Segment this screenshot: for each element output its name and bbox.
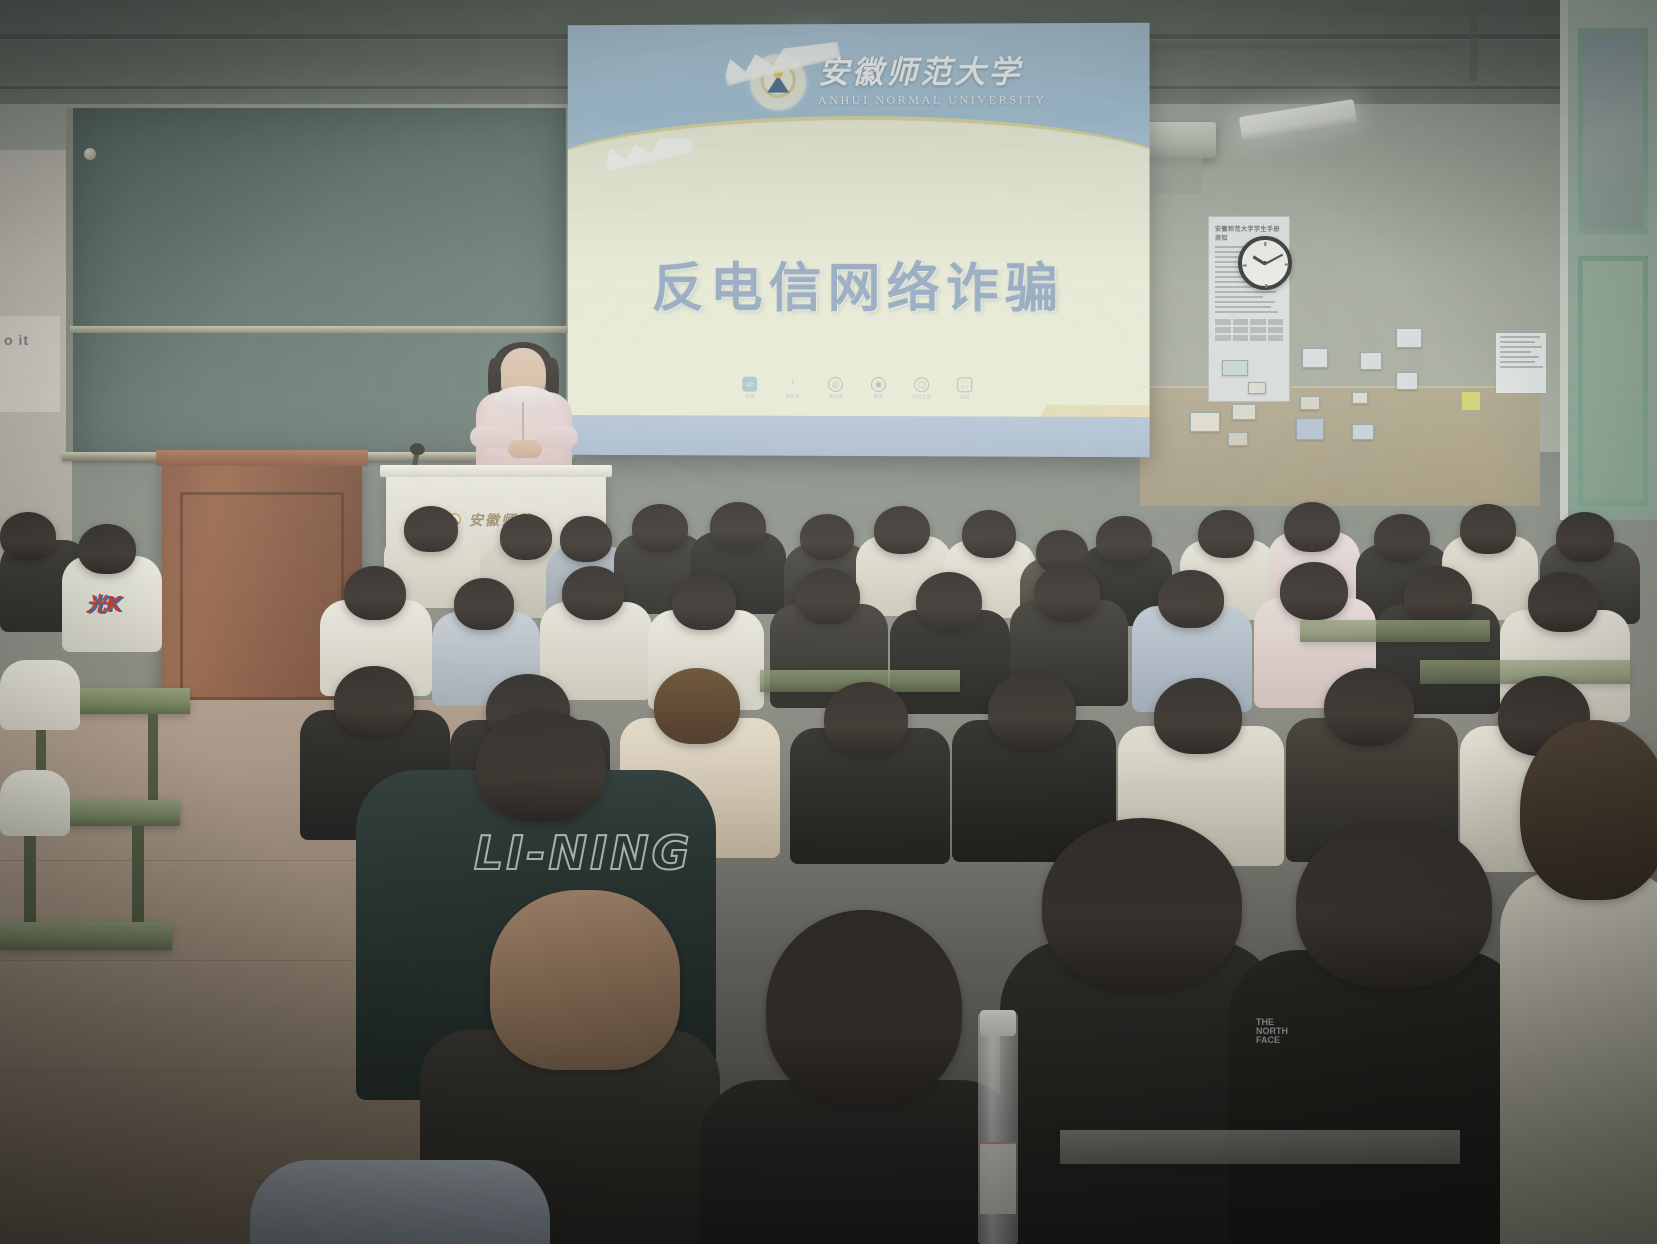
wall-photo: [1190, 412, 1220, 432]
student-head: [562, 566, 624, 620]
desk-leg: [24, 826, 36, 936]
student-head: [454, 578, 514, 630]
student-head: [1198, 510, 1254, 558]
student-head: [824, 682, 908, 756]
bottle-cap: [980, 1010, 1016, 1036]
student-head: [766, 910, 962, 1106]
student-head: [1042, 818, 1242, 990]
projection-screen: 安徽师范大学 ANHUI NORMAL UNIVERSITY 反电信网络诈骗 ▱…: [568, 23, 1150, 458]
student-torso: [1500, 870, 1657, 1244]
fullscreen-icon[interactable]: ⛶: [957, 377, 972, 392]
wall-photo: [1396, 372, 1418, 390]
student-head: [916, 572, 982, 630]
wall-photo: [1228, 432, 1248, 446]
student-head: [404, 506, 458, 552]
student-head: [796, 568, 860, 624]
student-head: [1324, 668, 1414, 746]
wall-clock: [1238, 236, 1292, 290]
jacket-brand-li-ning: LI-NING: [474, 826, 692, 880]
desk-leg: [148, 714, 158, 800]
student-head: [1528, 572, 1598, 632]
wall-photo: [1300, 396, 1320, 410]
student-head: [654, 668, 740, 744]
student-head: [874, 506, 930, 554]
desk-leg: [132, 826, 144, 926]
wall-photo: [1222, 360, 1248, 376]
wall-photo: [1296, 418, 1324, 440]
toolbar-label: 激光笔: [828, 394, 842, 400]
presenter-arm-left: [470, 426, 512, 448]
left-wall-poster: [0, 316, 60, 412]
student-head: [1460, 504, 1516, 554]
clock-minute-hand: [1265, 254, 1284, 265]
wall-photo: [1396, 328, 1422, 348]
door-glass-panel: [1578, 28, 1648, 234]
slide-brand: 安徽师范大学 ANHUI NORMAL UNIVERSITY: [750, 53, 1046, 110]
sticky-note: [1462, 392, 1480, 410]
tnf-line-3: FACE: [1256, 1036, 1288, 1045]
presenter-collar: [494, 386, 554, 412]
laser-pointer-icon[interactable]: ◎: [828, 377, 843, 392]
student-head: [500, 514, 552, 560]
toolbar-item-pageview[interactable]: ◻ 浏览全部: [909, 377, 935, 400]
jacket-graphic-text: 光K: [86, 588, 122, 617]
pen-tool-icon[interactable]: ▱: [742, 377, 757, 392]
toolbar-item-eraser[interactable]: ◉ 橡皮: [865, 377, 891, 400]
toolbar-item-laser[interactable]: ◎ 激光笔: [823, 377, 849, 400]
student-head: [560, 516, 612, 562]
student-head: [1556, 512, 1614, 562]
student-head: [0, 512, 56, 560]
toolbar-label: 浏览全部: [912, 394, 931, 400]
wall-photo: [1360, 352, 1382, 370]
student-head: [1096, 516, 1152, 564]
projector-arm: [1148, 156, 1202, 194]
notice-table: [1215, 319, 1283, 341]
student-head: [800, 514, 854, 560]
ceiling-conduit: [1150, 44, 1450, 49]
student-head: [78, 524, 136, 574]
chalkboard-divider: [70, 326, 570, 333]
student-head: [632, 504, 688, 552]
jacket-brand-north-face: THE NORTH FACE: [1256, 1018, 1288, 1045]
toolbar-label: 橡皮: [874, 394, 883, 400]
student-head: [344, 566, 406, 620]
student-torso-north-face: [1228, 950, 1528, 1244]
presenter-hands: [508, 440, 542, 458]
student-head: [1034, 564, 1100, 622]
student-head-with-hat: [490, 890, 680, 1070]
wall-photo: [1232, 404, 1256, 420]
student-desk: [1060, 1130, 1460, 1164]
student-torso: [250, 1160, 550, 1244]
toolbar-label: 画笔: [745, 394, 754, 400]
toolbar-item-pen[interactable]: ▱ 画笔: [737, 377, 763, 400]
student-head: [1280, 562, 1348, 620]
ceiling-conduit: [1470, 14, 1478, 82]
wall-photo: [1302, 348, 1328, 368]
student-head: [1374, 514, 1430, 562]
presenter-arm-right: [536, 426, 578, 448]
highlighter-icon[interactable]: /: [785, 377, 800, 392]
student-head: [476, 710, 606, 822]
presentation-slide: 安徽师范大学 ANHUI NORMAL UNIVERSITY 反电信网络诈骗 ▱…: [568, 23, 1150, 458]
presenter-speaker: [474, 348, 574, 480]
toolbar-label: 荧光笔: [786, 394, 800, 400]
student-head: [962, 510, 1016, 558]
toolbar-label: 退出: [960, 394, 969, 400]
slide-title: 反电信网络诈骗: [568, 246, 1150, 323]
student-head: [1296, 820, 1492, 988]
student-desk: [1300, 620, 1490, 642]
student-head: [710, 502, 766, 550]
student-audience: 光K: [0, 470, 1657, 1244]
brand-name-cn: 安徽师范大学: [818, 56, 1047, 88]
student-head: [1284, 502, 1340, 552]
toolbar-item-fullscreen[interactable]: ⛶ 退出: [952, 377, 978, 400]
student-head: [1404, 566, 1472, 626]
presentation-toolbar[interactable]: ▱ 画笔 / 荧光笔 ◎ 激光笔 ◉ 橡皮 ◻ 浏览全部: [568, 376, 1150, 401]
eraser-icon[interactable]: ◉: [871, 377, 886, 392]
page-view-icon[interactable]: ◻: [914, 377, 929, 392]
university-emblem-icon: [750, 54, 806, 110]
student-head: [1158, 570, 1224, 628]
door-lower-panel: [1578, 256, 1648, 506]
wall-photo: [1248, 382, 1266, 394]
student-head: [1520, 720, 1657, 900]
student-head: [334, 666, 414, 736]
student-desk: [0, 922, 172, 950]
brand-name-en: ANHUI NORMAL UNIVERSITY: [818, 92, 1047, 108]
student-head: [988, 672, 1076, 748]
student-head: [672, 574, 736, 630]
bottle-label: [980, 1142, 1016, 1214]
wall-photo: [1352, 424, 1374, 440]
toolbar-item-highlighter[interactable]: / 荧光笔: [780, 377, 806, 400]
wall-schedule-poster: [1495, 332, 1547, 394]
lecture-hall-photo: o it 安徽师范大学 ANHUI NORMAL UNIVERSITY 反电信网…: [0, 0, 1657, 1244]
student-torso: [0, 660, 80, 730]
student-torso: [0, 770, 70, 836]
wall-photo: [1352, 392, 1368, 404]
board-knob: [84, 148, 96, 160]
slide-footer-band: [568, 415, 1150, 457]
student-head: [1154, 678, 1242, 754]
left-poster-label: o it: [4, 332, 29, 348]
